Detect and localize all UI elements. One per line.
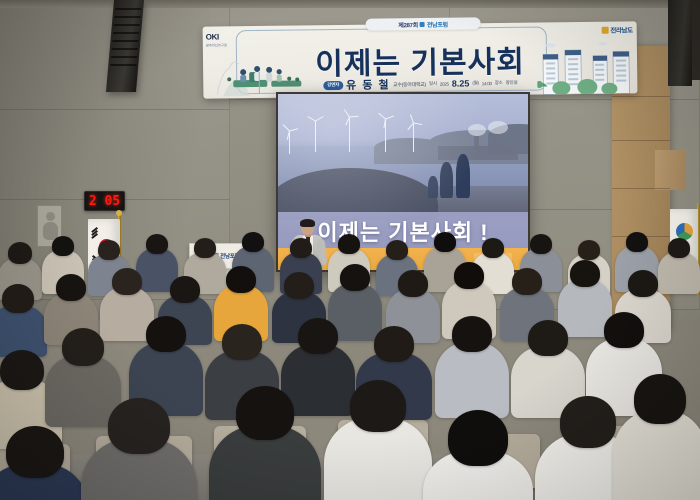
slide-background-photo <box>278 94 528 216</box>
banner-month-day: 8.25 <box>452 78 470 88</box>
flag-finial <box>116 210 122 216</box>
banner-speaker-affiliation: 교수(동아대학교) <box>393 80 426 87</box>
wind-turbine-icon <box>286 126 294 154</box>
wind-turbine-icon <box>410 118 418 150</box>
banner-speaker-name: 유 동 철 <box>346 76 390 93</box>
audience-member-head <box>242 232 264 252</box>
banner-series-label: 제287회 전남포럼 <box>366 17 481 30</box>
smoke-plume <box>488 121 508 134</box>
audience-member-head <box>350 380 406 432</box>
audience-member-head <box>56 274 86 301</box>
wood-seam <box>612 140 670 141</box>
audience-member-head <box>284 272 314 299</box>
led-wall-clock: 2 05 <box>84 191 125 211</box>
ceiling-edge <box>0 0 700 8</box>
audience-member-head <box>626 232 648 252</box>
audience-member-head <box>0 350 44 390</box>
smoke-plume <box>468 124 486 136</box>
wood-wall-panel <box>655 150 685 190</box>
banner-time: 14:00 <box>482 81 492 86</box>
audience-member-head <box>108 398 170 454</box>
banner-year: 2025 <box>440 81 449 86</box>
audience-member-head <box>226 266 256 293</box>
banner-place: 왕인실 <box>506 80 518 86</box>
audience-member-head <box>52 236 74 256</box>
audience-member-head <box>146 316 186 352</box>
audience-member-head <box>338 234 360 254</box>
wind-turbine-icon <box>382 114 390 150</box>
audience-member-head <box>578 240 600 260</box>
audience-member-head <box>482 238 504 258</box>
audience-member-head <box>194 238 216 258</box>
audience-member-head <box>8 242 32 264</box>
wood-seam <box>612 96 670 97</box>
audience-member-head <box>6 426 64 478</box>
clock-digits: 2 05 <box>89 195 120 208</box>
speaker-pill-label: 강연자 <box>323 80 343 89</box>
banner-forum-name: 전남포럼 <box>427 19 448 28</box>
province-logo-text: 전라남도 <box>610 24 632 34</box>
banner-body: OKI 광주전남연구원 전라남도 <box>203 21 638 98</box>
audience-member-head <box>512 268 542 295</box>
banner-date-label: 일시 <box>429 81 437 87</box>
audience-member-head <box>628 270 658 297</box>
person-silhouette <box>440 162 453 198</box>
audience-member-head <box>560 396 616 448</box>
audience-member-head <box>290 238 312 258</box>
audience-member-body <box>435 342 509 418</box>
audience-member-head <box>374 326 414 362</box>
audience-member-head <box>604 312 644 348</box>
audience-member-head <box>298 318 338 354</box>
audience-member-head <box>398 270 428 297</box>
banner-place-label: 장소 <box>495 80 503 86</box>
wind-turbine-icon <box>346 112 354 150</box>
audience-member-head <box>634 374 686 424</box>
audience-member-head <box>170 276 200 303</box>
audience-member-head <box>448 410 508 466</box>
audience-member-head <box>454 262 484 289</box>
child-silhouette <box>428 176 438 198</box>
audience-member-head <box>236 386 294 440</box>
audience-member-head <box>222 324 262 360</box>
audience-member-head <box>146 234 168 254</box>
smokestack <box>474 136 479 150</box>
smokestack <box>492 134 497 150</box>
audience <box>0 258 700 500</box>
banner-series-number: 제287회 <box>398 20 418 29</box>
audience-member-head <box>98 240 120 260</box>
banner-weekday: (월) <box>472 80 478 86</box>
wind-turbine-icon <box>312 116 320 150</box>
audience-member-head <box>570 260 600 287</box>
auditorium-photo: 2 05 제287회 전남포럼 <box>0 0 700 500</box>
audience-member-head <box>62 328 104 366</box>
hanging-speaker-array-right <box>668 0 692 86</box>
audience-member-head <box>386 240 408 260</box>
banner-right-logo: 전라남도 <box>601 24 632 34</box>
audience-member-head <box>340 264 370 291</box>
audience-member-head <box>112 268 142 295</box>
presenter-hair <box>300 219 315 227</box>
province-logo-icon <box>601 26 608 33</box>
audience-member-head <box>434 232 456 252</box>
audience-member-head <box>530 234 552 254</box>
audience-member-body <box>658 252 700 294</box>
audience-member-head <box>2 284 34 313</box>
person-silhouette <box>456 154 470 198</box>
audience-member-head <box>452 316 492 352</box>
wood-seam <box>612 188 670 189</box>
audience-member-head <box>668 238 690 258</box>
forum-mark-icon <box>420 21 425 26</box>
audience-member-head <box>528 320 568 356</box>
stage-banner: 제287회 전남포럼 OKI 광주전남연구원 전라남도 <box>203 15 638 100</box>
